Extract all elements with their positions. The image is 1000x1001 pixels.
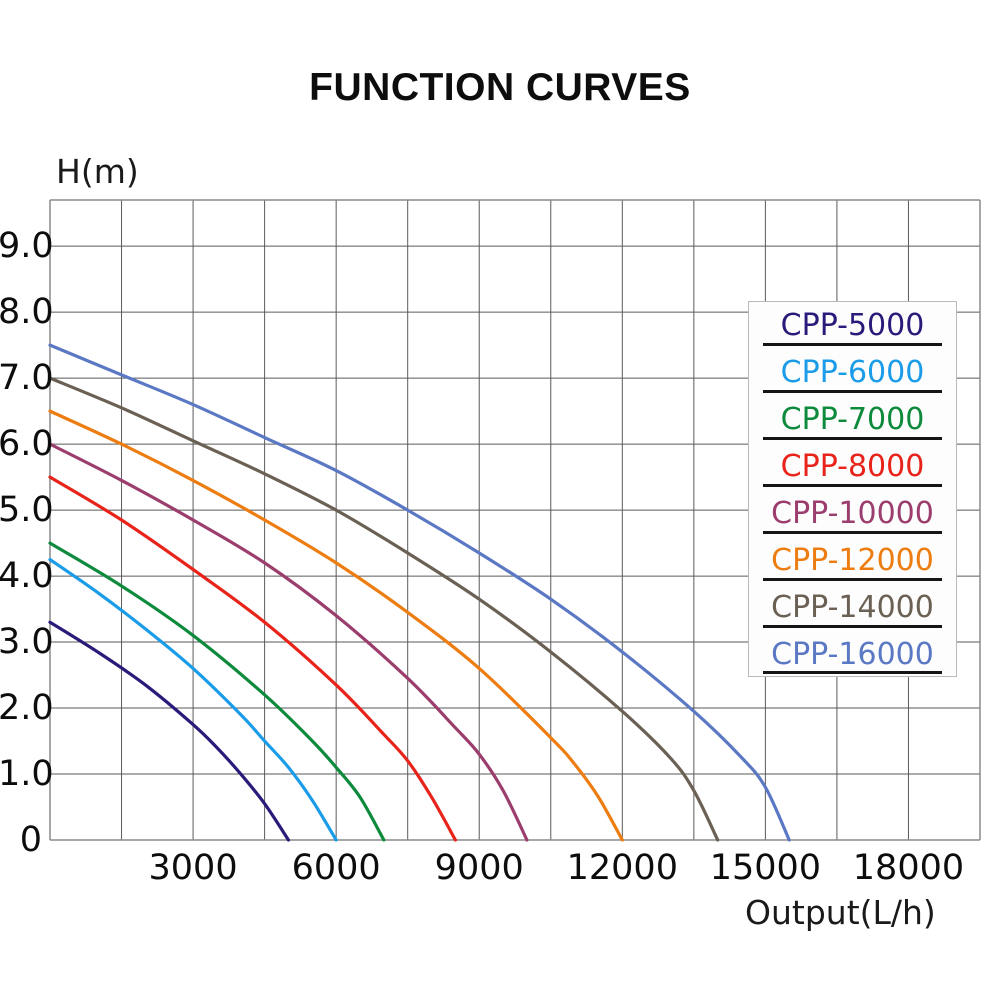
x-tick-label: 6000 <box>292 848 381 888</box>
legend-item-label: CPP-16000 <box>771 640 934 670</box>
legend-item-cpp-7000[interactable]: CPP-7000 <box>749 396 956 443</box>
x-tick-label: 12000 <box>567 848 678 888</box>
x-tick-label: 18000 <box>853 848 964 888</box>
legend-item-underline <box>763 484 942 487</box>
y-tick-label: 5.0 <box>0 490 42 530</box>
legend-item-cpp-8000[interactable]: CPP-8000 <box>749 443 956 490</box>
legend-item-label: CPP-10000 <box>771 499 934 529</box>
y-tick-label: 6.0 <box>0 424 42 464</box>
legend-item-cpp-16000[interactable]: CPP-16000 <box>749 631 956 678</box>
curve-cpp-5000 <box>50 622 288 840</box>
y-tick-label: 7.0 <box>0 358 42 398</box>
legend-item-underline <box>763 671 942 674</box>
legend-item-label: CPP-12000 <box>771 546 934 576</box>
y-tick-label: 2.0 <box>0 688 42 728</box>
x-tick-label: 3000 <box>149 848 238 888</box>
legend-item-label: CPP-6000 <box>781 358 925 388</box>
legend-item-cpp-5000[interactable]: CPP-5000 <box>749 302 956 349</box>
legend-item-label: CPP-7000 <box>781 405 925 435</box>
legend-item-cpp-12000[interactable]: CPP-12000 <box>749 537 956 584</box>
legend-item-underline <box>763 531 942 534</box>
y-tick-label: 3.0 <box>0 622 42 662</box>
legend-item-underline <box>763 625 942 628</box>
legend-item-label: CPP-5000 <box>781 311 925 341</box>
legend-item-cpp-14000[interactable]: CPP-14000 <box>749 584 956 631</box>
legend-item-cpp-10000[interactable]: CPP-10000 <box>749 490 956 537</box>
y-tick-label: 0 <box>0 820 42 860</box>
legend: CPP-5000CPP-6000CPP-7000CPP-8000CPP-1000… <box>748 301 957 677</box>
legend-item-underline <box>763 390 942 393</box>
function-curves-chart: FUNCTION CURVES H(m) Output(L/h) 01.02.0… <box>0 0 1000 1001</box>
curve-cpp-8000 <box>50 477 455 840</box>
legend-item-label: CPP-14000 <box>771 593 934 623</box>
curve-cpp-14000 <box>50 378 718 840</box>
y-tick-label: 4.0 <box>0 556 42 596</box>
legend-item-underline <box>763 437 942 440</box>
legend-item-underline <box>763 343 942 346</box>
y-tick-label: 9.0 <box>0 226 42 266</box>
legend-item-label: CPP-8000 <box>781 452 925 482</box>
x-tick-label: 15000 <box>710 848 821 888</box>
x-tick-label: 9000 <box>435 848 524 888</box>
legend-item-underline <box>763 578 942 581</box>
legend-item-cpp-6000[interactable]: CPP-6000 <box>749 349 956 396</box>
y-tick-label: 1.0 <box>0 754 42 794</box>
y-tick-label: 8.0 <box>0 292 42 332</box>
